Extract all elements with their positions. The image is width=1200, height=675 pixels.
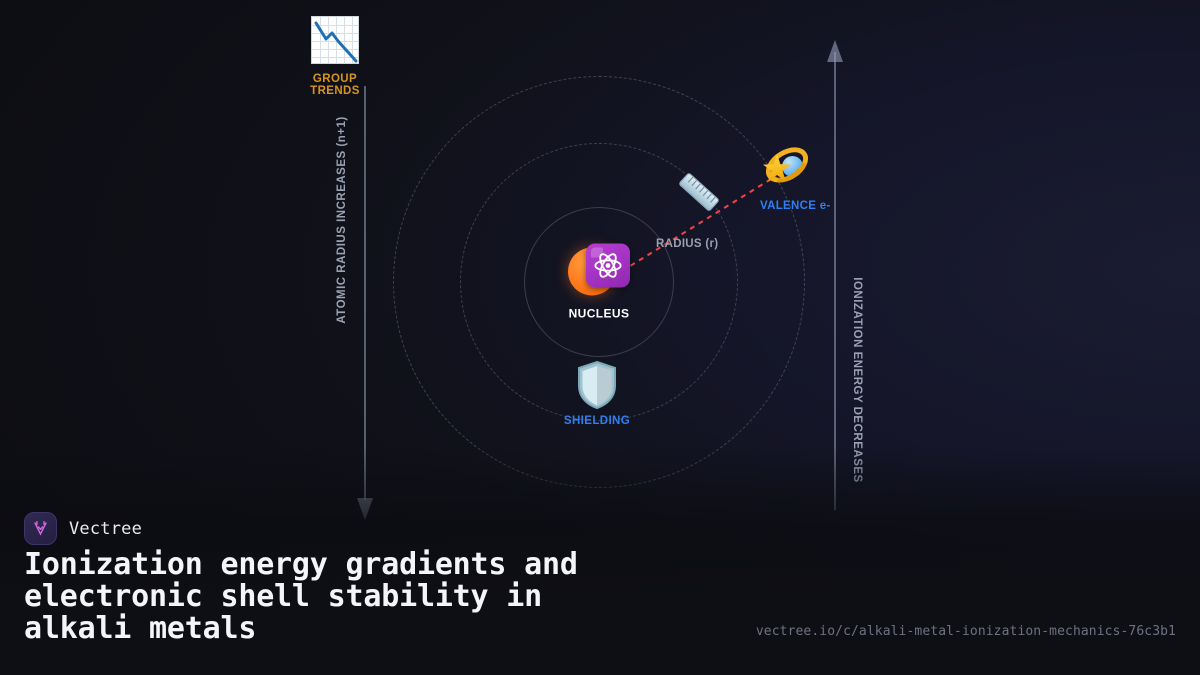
nucleus-art [568,244,630,300]
dizzy-star-orbit-icon [757,146,813,194]
footer-url: vectree.io/c/alkali-metal-ionization-mec… [756,624,1176,639]
page-title: Ionization energy gradients and electron… [24,549,754,645]
radius-label: RADIUS (r) [656,238,718,250]
brand-row: Vectree [24,512,142,545]
shielding-label: SHIELDING [527,415,667,427]
atomic-radius-axis-line [364,86,366,500]
ionization-energy-axis-label: IONIZATION ENERGY DECREASES [851,277,863,482]
group-trends-label: GROUP TRENDS [290,73,380,97]
vectree-logo-icon [24,512,57,545]
arrow-down-icon [357,498,373,520]
trend-line [312,17,359,64]
nucleus-group: NUCLEUS [539,244,659,321]
atom-icon [586,244,630,288]
valence-electron-group: VALENCE e- [757,146,813,194]
valence-label: VALENCE e- [760,200,831,212]
brand-name: Vectree [69,519,142,539]
vectree-glyph [31,519,50,538]
nucleus-label: NUCLEUS [539,307,659,321]
diagram-canvas: NUCLEUS RADIUS (r) VALENCE e- SHIELDING [0,0,1200,675]
shielding-group: SHIELDING [527,360,667,427]
arrow-up-icon [827,40,843,62]
shield-icon [576,360,618,410]
group-trends-group: GROUP TRENDS [290,16,380,97]
atomic-radius-axis-label: ATOMIC RADIUS INCREASES (n+1) [336,116,348,323]
ionization-energy-axis-line [834,52,836,510]
declining-line-chart-icon [311,16,359,64]
